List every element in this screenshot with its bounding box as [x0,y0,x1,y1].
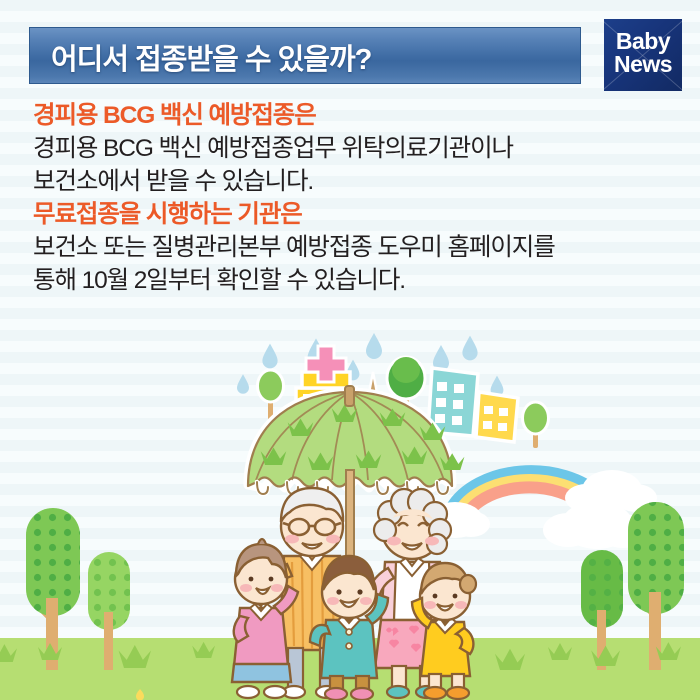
scene-artwork [0,330,700,700]
baby-news-logo[interactable]: Baby News [604,19,682,91]
polka-dot-tree [523,402,549,448]
copy-line: 통해 10월 2일부터 확인할 수 있습니다. [33,264,673,297]
body-copy: 경피용 BCG 백신 예방접종은 경피용 BCG 백신 예방접종업무 위탁의료기… [33,99,673,297]
illustration-scene [0,330,700,700]
polka-dot-tree [88,552,130,670]
polka-dot-tree [628,502,684,670]
logo-text: Baby News [604,30,682,77]
infographic-poster: 어디서 접종받을 수 있을까? Baby News 경피용 BCG 백신 예방접… [0,0,700,700]
copy-line: 경피용 BCG 백신 예방접종업무 위탁의료기관이나 [33,132,673,165]
sun-icon [101,689,179,700]
copy-line: 보건소 또는 질병관리본부 예방접종 도우미 홈페이지를 [33,231,673,264]
copy-line: 경피용 BCG 백신 예방접종은 [33,99,673,132]
copy-line: 무료접종을 시행하는 기관은 [33,198,673,231]
small-yellow-building [476,392,518,442]
logo-line-1: Baby [604,30,682,53]
polka-dot-tree [581,550,623,670]
polka-dot-tree [26,508,80,670]
page-title: 어디서 접종받을 수 있을까? [51,36,371,78]
copy-line: 보건소에서 받을 수 있습니다. [33,165,673,198]
logo-line-2: News [604,53,682,76]
